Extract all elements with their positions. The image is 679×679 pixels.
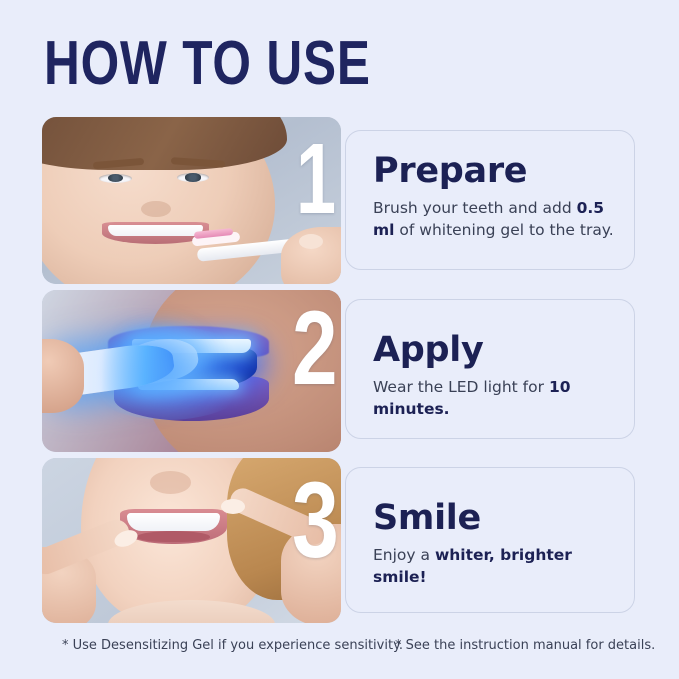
footnote-instruction-manual: * See the instruction manual for details… xyxy=(395,638,655,653)
teeth-shape xyxy=(108,225,203,235)
step-2-desc-before: Wear the LED light for xyxy=(373,378,549,396)
tongue-shape xyxy=(137,531,210,543)
step-3-title: Smile xyxy=(373,498,620,538)
step-3-card-content: Smile Enjoy a whiter, brighter smile! xyxy=(373,498,620,588)
step-3-card: Smile Enjoy a whiter, brighter smile! xyxy=(345,467,635,613)
footnote-desensitizing-gel: * Use Desensitizing Gel if you experienc… xyxy=(62,638,403,653)
step-1-desc-after: of whitening gel to the tray. xyxy=(394,221,613,239)
step-row-3: 3 Smile Enjoy a whiter, brighter smile! xyxy=(0,458,679,623)
fingernail xyxy=(299,234,323,249)
step-1-card: Prepare Brush your teeth and add 0.5 ml … xyxy=(345,130,635,270)
step-2-card: Apply Wear the LED light for 10 minutes. xyxy=(345,299,635,439)
step-1-photo xyxy=(42,117,341,284)
white-teeth xyxy=(127,513,220,531)
step-2-card-content: Apply Wear the LED light for 10 minutes. xyxy=(373,330,620,420)
step-1-title: Prepare xyxy=(373,151,620,191)
step-row-1: 1 Prepare Brush your teeth and add 0.5 m… xyxy=(0,117,679,284)
nose-shape xyxy=(141,201,171,218)
step-1-desc-before: Brush your teeth and add xyxy=(373,199,577,217)
step-2-photo xyxy=(42,290,341,452)
step-1-description: Brush your teeth and add 0.5 ml of white… xyxy=(373,197,620,241)
step-3-description: Enjoy a whiter, brighter smile! xyxy=(373,544,620,588)
how-to-use-infographic: HOW TO USE 1 Prepare Brush your teeth an… xyxy=(0,0,679,679)
step-row-2: 2 Apply Wear the LED light for 10 minute… xyxy=(0,290,679,452)
eye-left xyxy=(99,174,132,183)
iris-left xyxy=(108,174,123,182)
step-3-desc-before: Enjoy a xyxy=(373,546,435,564)
step-1-card-content: Prepare Brush your teeth and add 0.5 ml … xyxy=(373,151,620,241)
iris-right xyxy=(185,173,200,181)
page-title: HOW TO USE xyxy=(44,33,371,95)
step-3-photo xyxy=(42,458,341,623)
step-2-title: Apply xyxy=(373,330,620,370)
step-2-description: Wear the LED light for 10 minutes. xyxy=(373,376,620,420)
